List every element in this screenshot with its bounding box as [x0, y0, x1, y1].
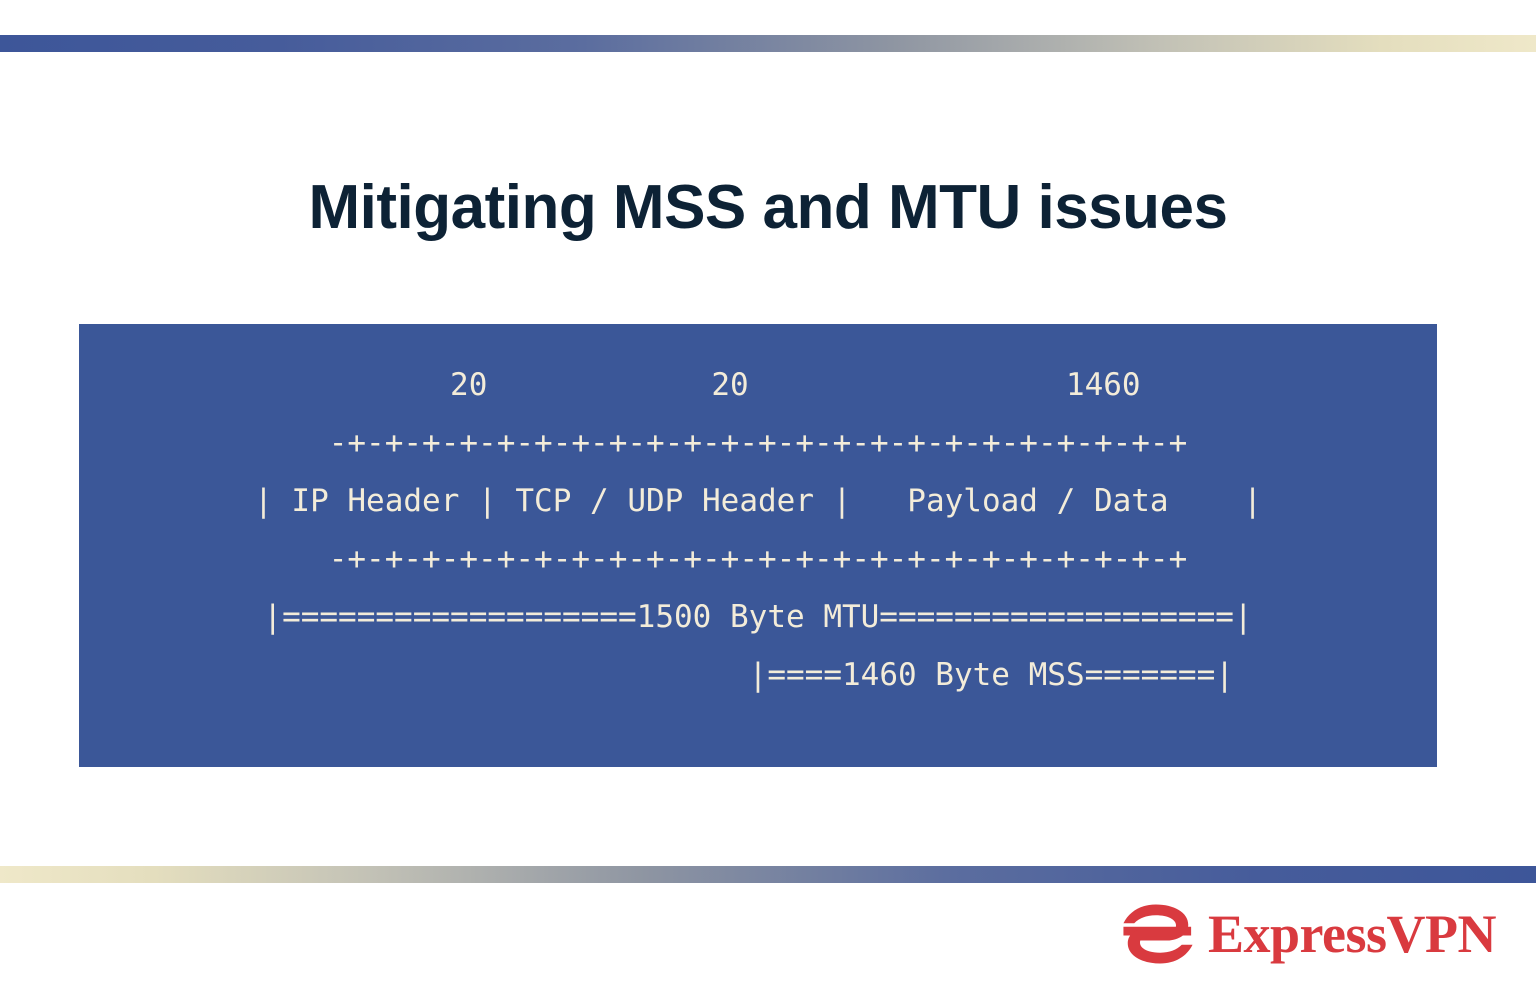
expressvpn-wordmark: ExpressVPN [1208, 907, 1496, 961]
bottom-gradient-rule [0, 866, 1536, 883]
expressvpn-e-logo-icon [1122, 903, 1194, 965]
page-title: Mitigating MSS and MTU issues [0, 172, 1536, 243]
packet-structure-ascii-art: 20 20 1460 -+-+-+-+-+-+-+-+-+-+-+-+-+-+-… [79, 356, 1437, 704]
ascii-diagram-panel: 20 20 1460 -+-+-+-+-+-+-+-+-+-+-+-+-+-+-… [79, 324, 1437, 767]
expressvpn-brand-lockup: ExpressVPN [1122, 898, 1452, 970]
top-gradient-rule [0, 35, 1536, 52]
